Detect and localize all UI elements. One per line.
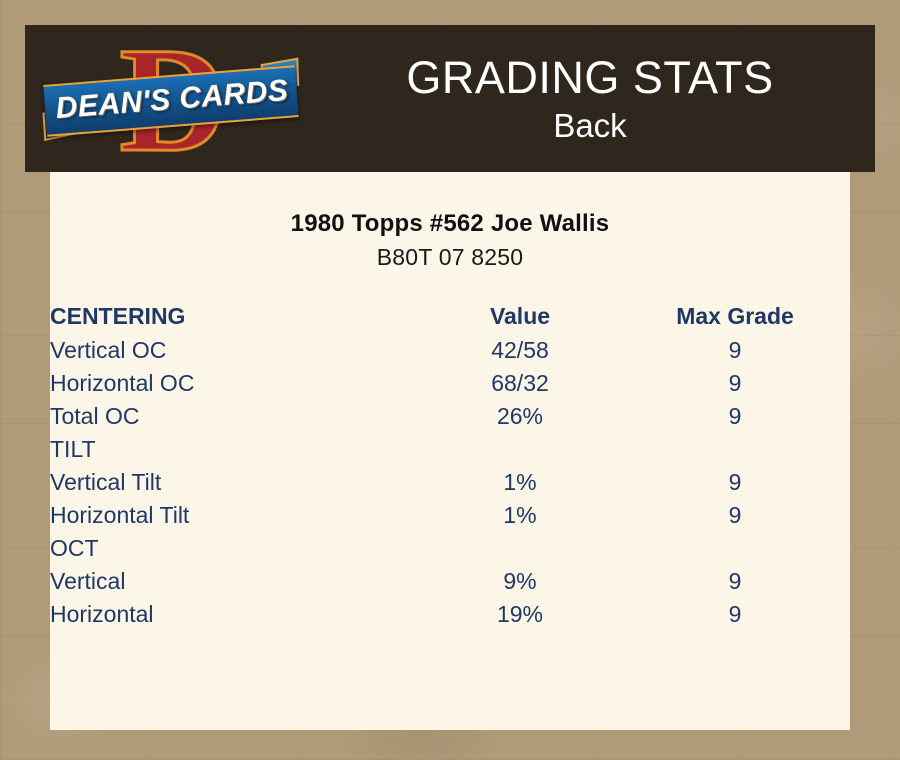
stat-value: 1% bbox=[420, 466, 620, 499]
stat-value: 26% bbox=[420, 400, 620, 433]
stat-value: 68/32 bbox=[420, 367, 620, 400]
header-bar: D DEAN'S CARDS GRADING STATS Back bbox=[25, 25, 875, 172]
section-grade-spacer bbox=[620, 433, 850, 466]
column-header-section: CENTERING bbox=[50, 303, 420, 334]
table-body: Vertical OC42/589Horizontal OC68/329Tota… bbox=[50, 334, 850, 631]
stat-value: 42/58 bbox=[420, 334, 620, 367]
column-header-value: Value bbox=[420, 303, 620, 334]
stat-label: Total OC bbox=[50, 400, 420, 433]
card-code: B80T 07 8250 bbox=[50, 244, 850, 271]
stat-label: Vertical bbox=[50, 565, 420, 598]
table-row: Vertical9%9 bbox=[50, 565, 850, 598]
page-subtitle: Back bbox=[553, 106, 626, 146]
column-header-grade: Max Grade bbox=[620, 303, 850, 334]
section-header-row: OCT bbox=[50, 532, 850, 565]
section-label: OCT bbox=[50, 532, 420, 565]
stat-label: Vertical OC bbox=[50, 334, 420, 367]
table-row: Horizontal OC68/329 bbox=[50, 367, 850, 400]
table-row: Vertical Tilt1%9 bbox=[50, 466, 850, 499]
stat-grade: 9 bbox=[620, 334, 850, 367]
stat-grade: 9 bbox=[620, 598, 850, 631]
table-header-row: CENTERING Value Max Grade bbox=[50, 303, 850, 334]
stat-label: Vertical Tilt bbox=[50, 466, 420, 499]
section-header-row: TILT bbox=[50, 433, 850, 466]
table-row: Vertical OC42/589 bbox=[50, 334, 850, 367]
stat-label: Horizontal bbox=[50, 598, 420, 631]
table-row: Horizontal19%9 bbox=[50, 598, 850, 631]
stat-grade: 9 bbox=[620, 400, 850, 433]
header-title-group: GRADING STATS Back bbox=[305, 25, 875, 172]
card-title: 1980 Topps #562 Joe Wallis bbox=[50, 210, 850, 238]
table-row: Total OC26%9 bbox=[50, 400, 850, 433]
section-value-spacer bbox=[420, 433, 620, 466]
stat-value: 19% bbox=[420, 598, 620, 631]
section-grade-spacer bbox=[620, 532, 850, 565]
section-value-spacer bbox=[420, 532, 620, 565]
grading-stats-table: CENTERING Value Max Grade Vertical OC42/… bbox=[50, 303, 850, 631]
table-row: Horizontal Tilt1%9 bbox=[50, 499, 850, 532]
stat-grade: 9 bbox=[620, 499, 850, 532]
stat-grade: 9 bbox=[620, 565, 850, 598]
stat-grade: 9 bbox=[620, 466, 850, 499]
page-title: GRADING STATS bbox=[406, 52, 773, 104]
stat-label: Horizontal Tilt bbox=[50, 499, 420, 532]
stat-grade: 9 bbox=[620, 367, 850, 400]
content-panel: 1980 Topps #562 Joe Wallis B80T 07 8250 … bbox=[50, 172, 850, 730]
section-label: TILT bbox=[50, 433, 420, 466]
stat-value: 1% bbox=[420, 499, 620, 532]
stat-value: 9% bbox=[420, 565, 620, 598]
table-head: CENTERING Value Max Grade bbox=[50, 303, 850, 334]
stat-label: Horizontal OC bbox=[50, 367, 420, 400]
deans-cards-logo[interactable]: D DEAN'S CARDS bbox=[45, 31, 300, 166]
